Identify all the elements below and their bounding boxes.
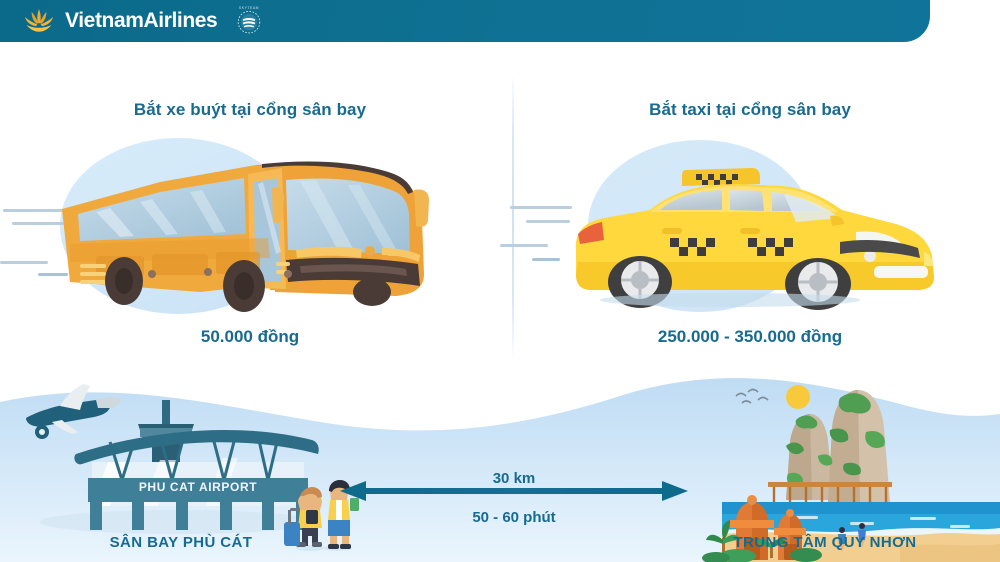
transport-options: Bắt xe buýt tại cổng sân bay (0, 42, 1000, 385)
route-distance-label: 30 km (402, 470, 626, 487)
option-taxi-price: 250.000 - 350.000 đồng (500, 327, 1000, 347)
option-taxi-title: Bắt taxi tại cổng sân bay (500, 100, 1000, 120)
birds-icon (736, 390, 768, 404)
skyteam-logo-icon: SKYTEAM (232, 4, 266, 38)
lotus-icon (22, 8, 56, 34)
svg-text:SKYTEAM: SKYTEAM (239, 6, 259, 10)
infographic-page: VietnamAirlines SKYTEAM Bắt xe buýt tại … (0, 0, 1000, 562)
bus-illustration (0, 134, 500, 319)
option-bus-price: 50.000 đồng (0, 327, 500, 347)
route-duration-label: 50 - 60 phút (402, 509, 626, 526)
sun-icon (786, 385, 810, 409)
vietnam-airlines-logo: VietnamAirlines SKYTEAM (22, 4, 266, 38)
option-taxi[interactable]: Bắt taxi tại cổng sân bay (500, 42, 1000, 385)
brand-header: VietnamAirlines SKYTEAM (0, 0, 930, 42)
karst-islands (768, 390, 892, 503)
brand-name: VietnamAirlines (65, 9, 217, 33)
destination-label: TRUNG TÂM QUY NHƠN (690, 534, 960, 551)
origin-label: SÂN BAY PHÙ CÁT (56, 534, 306, 551)
option-bus-title: Bắt xe buýt tại cổng sân bay (0, 100, 500, 120)
option-bus[interactable]: Bắt xe buýt tại cổng sân bay (0, 42, 500, 385)
taxi-illustration (500, 134, 1000, 319)
